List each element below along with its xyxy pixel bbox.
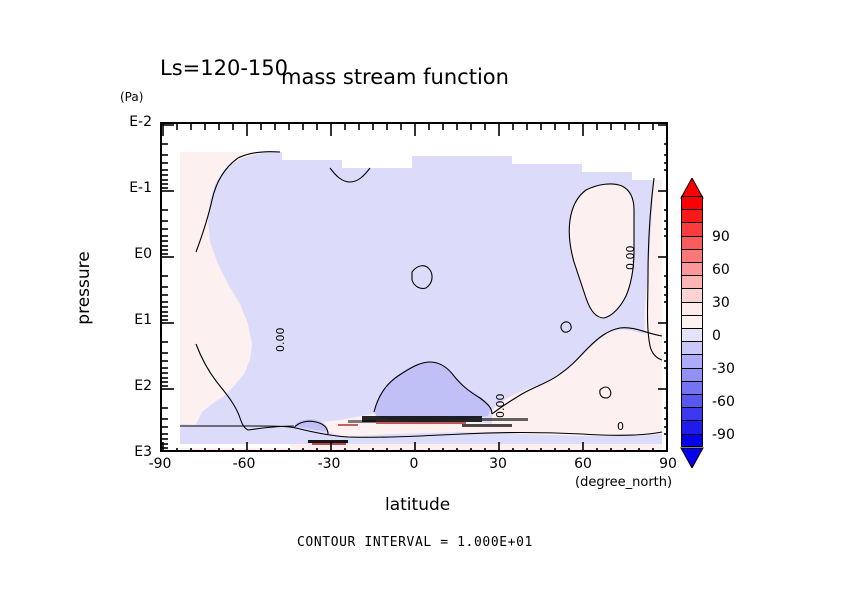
colorbar-segment bbox=[681, 434, 703, 447]
colorbar-segment bbox=[681, 328, 703, 341]
colorbar[interactable] bbox=[681, 196, 703, 448]
colorbar-segment bbox=[681, 315, 703, 328]
colorbar-tick-label: 60 bbox=[712, 262, 730, 278]
contour-label: 0.00 bbox=[494, 394, 507, 419]
contour-plot-svg: 0.00 0.00 0.00 0 bbox=[162, 124, 668, 452]
colorbar-segment bbox=[681, 302, 703, 315]
colorbar-segment bbox=[681, 222, 703, 235]
colorbar-tick-label: -90 bbox=[712, 427, 735, 443]
colorbar-segment bbox=[681, 420, 703, 433]
colorbar-arrow-top bbox=[681, 178, 703, 198]
colorbar-segment bbox=[681, 196, 703, 209]
colorbar-tick-label: -60 bbox=[712, 394, 735, 410]
x-tick-label: 0 bbox=[384, 456, 444, 472]
contour-label: 0.00 bbox=[624, 246, 637, 271]
contour-plot-area: 0.00 0.00 0.00 0 bbox=[160, 122, 668, 452]
x-axis-unit: (degree_north) bbox=[575, 475, 672, 490]
y-axis-label: pressure bbox=[74, 198, 94, 378]
colorbar-segment bbox=[681, 341, 703, 354]
x-tick-label: -60 bbox=[214, 456, 274, 472]
colorbar-segment bbox=[681, 407, 703, 420]
colorbar-segment bbox=[681, 394, 703, 407]
colorbar-segment bbox=[681, 262, 703, 275]
x-axis-label: latitude bbox=[385, 495, 450, 515]
x-tick-label: -30 bbox=[299, 456, 359, 472]
colorbar-arrow-bottom bbox=[681, 448, 703, 468]
y-tick-label: E2 bbox=[108, 378, 152, 394]
page-title: mass stream function bbox=[281, 65, 509, 89]
figure-canvas: Ls=120-150 mass stream function (Pa) pre… bbox=[0, 0, 842, 595]
contour-label: 0 bbox=[617, 420, 624, 433]
colorbar-segment bbox=[681, 209, 703, 222]
y-tick-label: E0 bbox=[108, 246, 152, 262]
x-tick-label: 60 bbox=[553, 456, 613, 472]
colorbar-segment bbox=[681, 288, 703, 301]
colorbar-tick-label: -30 bbox=[712, 361, 735, 377]
y-axis-unit: (Pa) bbox=[120, 90, 143, 104]
colorbar-tick-label: 90 bbox=[712, 229, 730, 245]
colorbar-segment bbox=[681, 381, 703, 394]
colorbar-segment bbox=[681, 368, 703, 381]
y-tick-label: E1 bbox=[108, 312, 152, 328]
colorbar-segment bbox=[681, 249, 703, 262]
subtitle-ls: Ls=120-150 bbox=[160, 56, 288, 80]
y-tick-label: E-1 bbox=[108, 180, 152, 196]
y-tick-label: E-2 bbox=[108, 114, 152, 130]
colorbar-tick-label: 30 bbox=[712, 295, 730, 311]
x-tick-label: -90 bbox=[130, 456, 190, 472]
colorbar-segment bbox=[681, 236, 703, 249]
contour-label: 0.00 bbox=[274, 328, 287, 353]
x-tick-label: 30 bbox=[468, 456, 528, 472]
contour-interval-note: CONTOUR INTERVAL = 1.000E+01 bbox=[297, 535, 533, 550]
colorbar-segment bbox=[681, 354, 703, 367]
colorbar-segment bbox=[681, 275, 703, 288]
colorbar-tick-label: 0 bbox=[712, 328, 721, 344]
